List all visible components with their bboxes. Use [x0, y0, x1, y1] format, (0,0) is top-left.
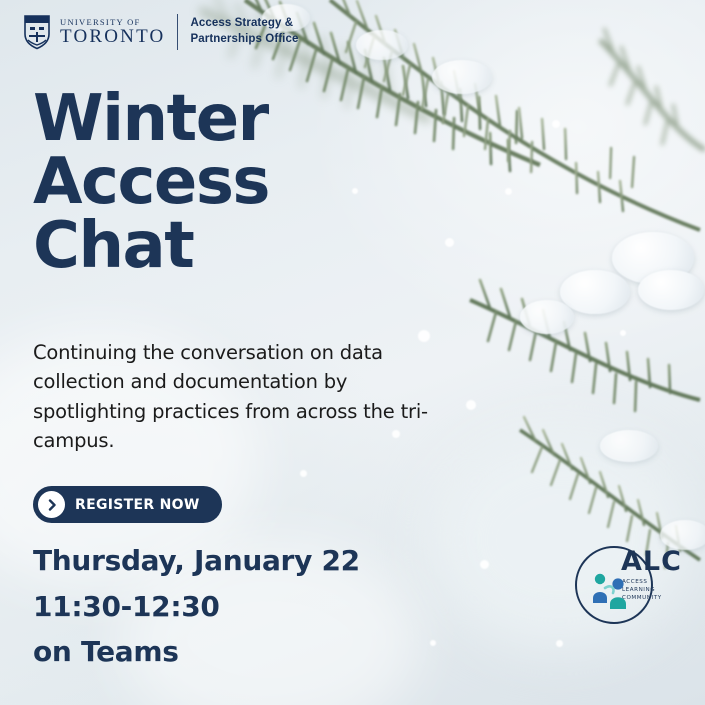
university-line-2: TORONTO: [60, 27, 165, 46]
snowflake: [430, 640, 436, 646]
uoft-logo-lockup: UNIVERSITY OF TORONTO Access Strategy & …: [22, 14, 298, 50]
event-platform: on Teams: [33, 629, 360, 675]
event-details: Thursday, January 22 11:30-12:30 on Team…: [33, 538, 360, 675]
snow-clump: [560, 270, 630, 314]
headline-line-3: Chat: [33, 215, 269, 278]
headline-line-1: Winter: [33, 88, 269, 151]
event-date: Thursday, January 22: [33, 538, 360, 584]
snow-clump: [356, 30, 408, 60]
alc-logo: ALC ACCESS LEARNING COMMUNITY: [565, 526, 681, 626]
snowflake: [445, 238, 454, 247]
unit-name: Access Strategy & Partnerships Office: [190, 16, 298, 47]
chevron-right-icon: [38, 491, 65, 518]
snowflake: [505, 188, 512, 195]
university-line-1: UNIVERSITY OF: [60, 18, 165, 27]
snow-clump: [638, 270, 704, 310]
snowflake: [466, 400, 476, 410]
page-title: Winter Access Chat: [33, 88, 269, 278]
alc-people-icon: [587, 570, 637, 617]
unit-name-line-1: Access Strategy &: [190, 16, 298, 32]
snow-clump: [520, 300, 574, 334]
logo-divider: [177, 14, 178, 50]
uoft-crest-icon: [22, 14, 52, 50]
event-time: 11:30-12:30: [33, 584, 360, 630]
snowflake: [552, 120, 560, 128]
register-now-button[interactable]: REGISTER NOW: [33, 486, 222, 523]
snowflake: [556, 640, 563, 647]
headline-line-2: Access: [33, 151, 269, 214]
snowflake: [352, 188, 358, 194]
poster-canvas: UNIVERSITY OF TORONTO Access Strategy & …: [0, 0, 705, 705]
snowflake: [300, 470, 307, 477]
unit-name-line-2: Partnerships Office: [190, 32, 298, 48]
register-now-label: REGISTER NOW: [75, 497, 200, 513]
snowflake: [620, 330, 626, 336]
snowflake: [480, 560, 489, 569]
snow-clump: [600, 430, 658, 462]
snow-clump: [432, 60, 492, 94]
description-text: Continuing the conversation on data coll…: [33, 338, 453, 455]
uoft-wordmark: UNIVERSITY OF TORONTO: [22, 14, 165, 50]
